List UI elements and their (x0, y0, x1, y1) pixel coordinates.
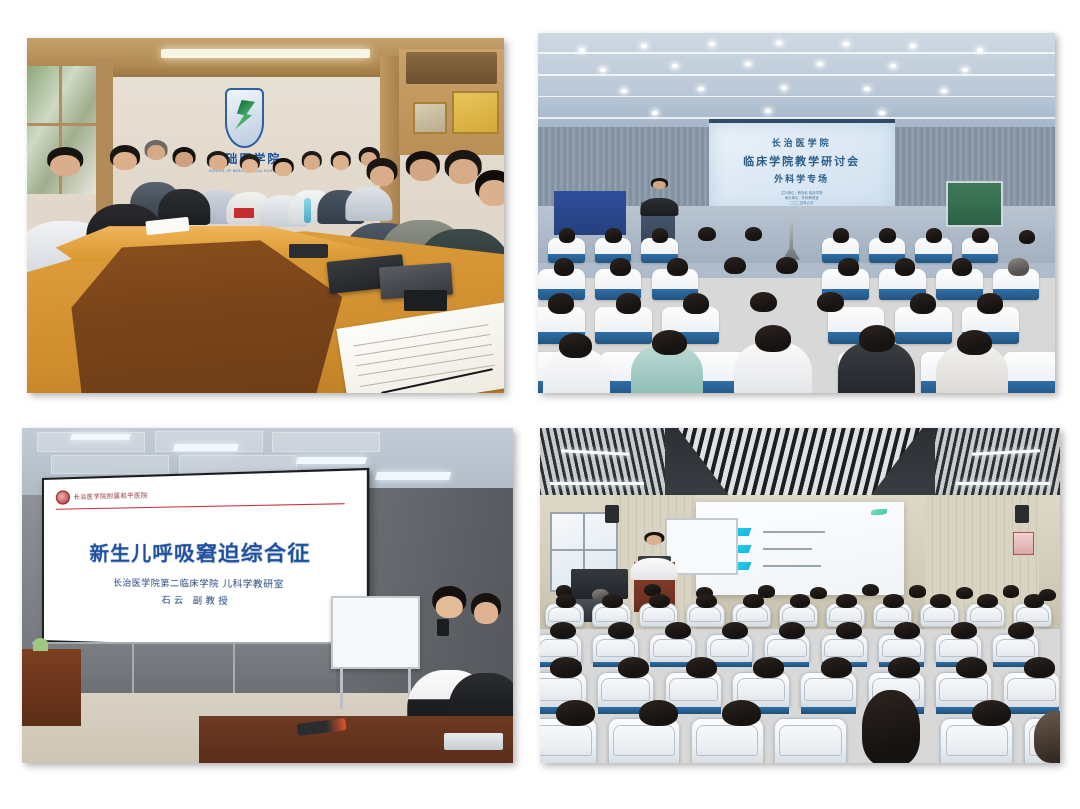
tablet (404, 290, 447, 311)
chair (774, 718, 847, 763)
audience-seating (540, 589, 1060, 763)
ceiling-baffles-right (935, 428, 1060, 502)
photo-1-scene: 基础医学院 SCHOOL OF BASIC MEDICAL SCIENCES (27, 38, 504, 393)
slide-logo: 长治医学院附属和平医院 (55, 484, 195, 507)
presenter-standing (464, 602, 508, 716)
ceiling-baffles-left (540, 428, 665, 502)
institution-seal-icon (55, 490, 69, 504)
projection-screen: 长治医学院 临床学院教学研讨会 外科学专场 主办单位：教务处 临床学院 承办单位… (709, 119, 895, 213)
person (170, 152, 199, 212)
wall-speaker-right (1015, 505, 1029, 523)
slide-decoration-icon (871, 509, 888, 515)
slide-logo-text: 长治医学院附属和平医院 (73, 491, 147, 502)
slide-subtitle-department: 长治医学院第二临床学院 儿科学教研室 (44, 576, 366, 591)
photo-meeting-room[interactable]: 基础医学院 SCHOOL OF BASIC MEDICAL SCIENCES (27, 38, 504, 393)
slide-footer-2: 承办单位：外科教研室 (709, 195, 895, 200)
photo-3-scene: 长治医学院附属和平医院 新生儿呼吸窘迫综合征 长治医学院第二临床学院 儿科学教研… (22, 428, 513, 763)
handheld-microphone (437, 619, 449, 636)
photo-4-scene (540, 428, 1060, 763)
slide-line-2: 临床学院教学研讨会 (709, 153, 895, 169)
slide-bullet-3-text (763, 565, 821, 567)
chair (800, 672, 857, 709)
photo-collage-page: 基础医学院 SCHOOL OF BASIC MEDICAL SCIENCES (0, 0, 1080, 809)
photo-2-scene: 长治医学院 临床学院教学研讨会 外科学专场 主办单位：教务处 临床学院 承办单位… (538, 33, 1055, 393)
slide-footer-1: 主办单位：教务处 临床学院 (709, 190, 895, 195)
ceiling-light (161, 49, 371, 58)
audience-seating (538, 235, 1055, 393)
slide-title: 新生儿呼吸窘迫综合征 (44, 537, 366, 567)
slide-line-3: 外科学专场 (709, 172, 895, 185)
slide-line-1: 长治医学院 (709, 136, 895, 149)
device (289, 244, 327, 258)
slide-bullet-2-text (763, 548, 813, 550)
slide-footer-3: 二〇二四年六月 (709, 200, 895, 205)
green-chalkboard (946, 181, 1003, 228)
safety-sign (1013, 532, 1034, 555)
desk-device (444, 733, 503, 750)
mobile-whiteboard (331, 596, 419, 670)
photo-auditorium[interactable] (540, 428, 1060, 763)
award-plaque-2 (413, 102, 446, 134)
chair (665, 672, 722, 709)
person (103, 152, 146, 237)
slide-subtitle-presenter: 石云 副教授 (44, 592, 366, 609)
speaker-at-podium (641, 535, 667, 572)
photo-classroom-presentation[interactable]: 长治医学院附属和平医院 新生儿呼吸窘迫综合征 长治医学院第二临床学院 儿科学教研… (22, 428, 513, 763)
slide-bullet-1-text (763, 531, 825, 533)
wooden-cabinet (22, 649, 81, 726)
speaker-at-podium (649, 181, 670, 210)
wall-speaker-left (605, 505, 619, 523)
projection-screen: 长治医学院附属和平医院 新生儿呼吸窘迫综合征 长治医学院第二临床学院 儿科学教研… (42, 468, 369, 652)
photo-lecture-hall[interactable]: 长治医学院 临床学院教学研讨会 外科学专场 主办单位：教务处 临床学院 承办单位… (538, 33, 1055, 393)
chair (1003, 672, 1060, 709)
school-emblem-icon (225, 88, 264, 148)
name-card (234, 208, 253, 217)
award-plaque (452, 91, 500, 134)
water-bottle (304, 198, 312, 223)
person (237, 159, 263, 212)
wall-board (406, 52, 497, 84)
